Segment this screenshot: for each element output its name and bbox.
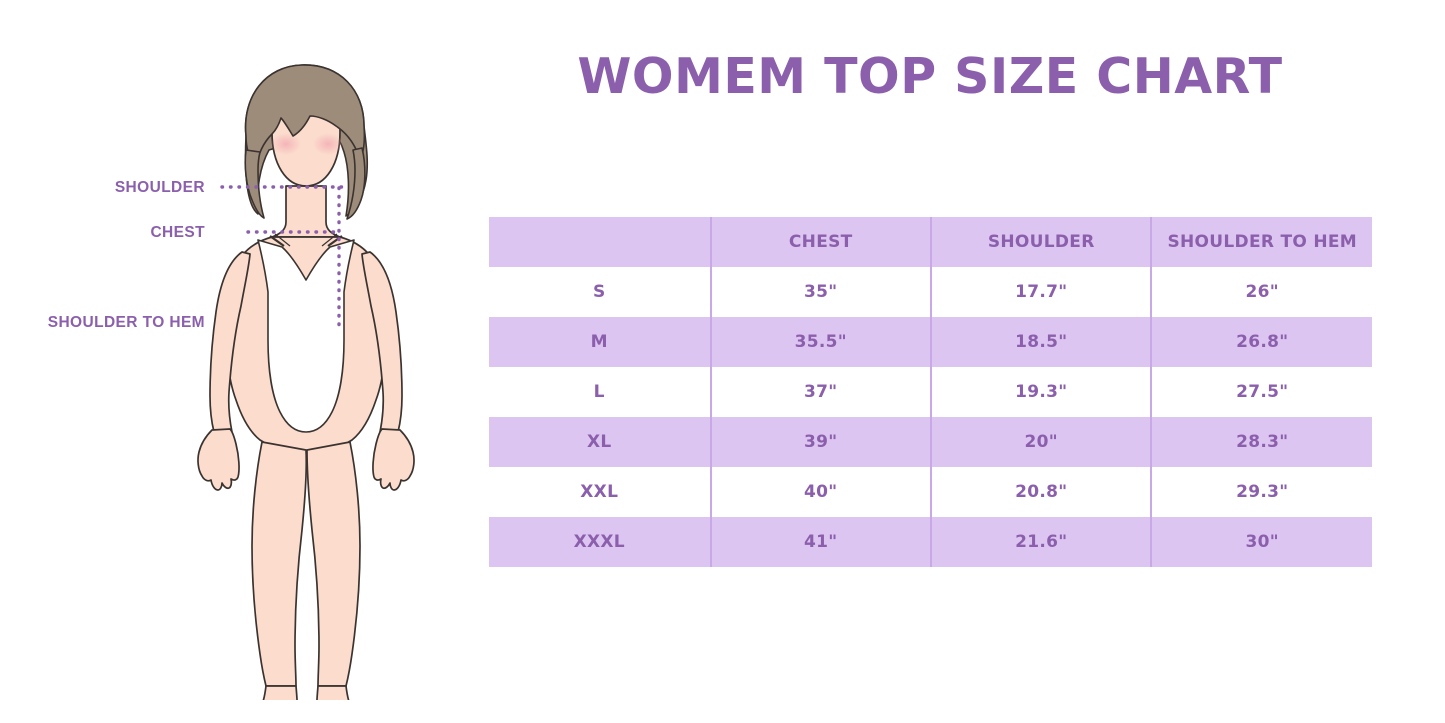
cell-shoulder: 21.6"	[931, 517, 1151, 567]
cell-shoulder-to-hem: 26.8"	[1151, 317, 1372, 367]
cell-shoulder: 19.3"	[931, 367, 1151, 417]
cell-size: XL	[489, 417, 711, 467]
cell-size: L	[489, 367, 711, 417]
table-header-row: CHEST SHOULDER SHOULDER TO HEM	[489, 217, 1372, 267]
cell-shoulder-to-hem: 30"	[1151, 517, 1372, 567]
table-row: XXXL 41" 21.6" 30"	[489, 517, 1372, 567]
column-header-chest: CHEST	[711, 217, 931, 267]
table-body: S 35" 17.7" 26" M 35.5" 18.5" 26.8" L 37…	[489, 267, 1372, 567]
cell-size: XXL	[489, 467, 711, 517]
cell-shoulder: 20.8"	[931, 467, 1151, 517]
cell-chest: 35"	[711, 267, 931, 317]
cell-chest: 37"	[711, 367, 931, 417]
page-title: WOMEM TOP SIZE CHART	[470, 48, 1390, 105]
cheek-right	[313, 133, 343, 155]
table-row: XL 39" 20" 28.3"	[489, 417, 1372, 467]
column-header-shoulder-to-hem: SHOULDER TO HEM	[1151, 217, 1372, 267]
cell-size: S	[489, 267, 711, 317]
cheek-left	[271, 133, 301, 155]
cell-size: M	[489, 317, 711, 367]
table-header: CHEST SHOULDER SHOULDER TO HEM	[489, 217, 1372, 267]
column-header-size	[489, 217, 711, 267]
cell-shoulder: 17.7"	[931, 267, 1151, 317]
table-row: S 35" 17.7" 26"	[489, 267, 1372, 317]
cell-shoulder-to-hem: 29.3"	[1151, 467, 1372, 517]
size-chart-page: WOMEM TOP SIZE CHART SHOULDER CHEST SHOU…	[0, 0, 1445, 723]
cell-shoulder: 18.5"	[931, 317, 1151, 367]
cell-shoulder: 20"	[931, 417, 1151, 467]
cell-size: XXXL	[489, 517, 711, 567]
size-chart-table: CHEST SHOULDER SHOULDER TO HEM S 35" 17.…	[489, 217, 1372, 567]
column-header-shoulder: SHOULDER	[931, 217, 1151, 267]
cell-chest: 35.5"	[711, 317, 931, 367]
table-row: L 37" 19.3" 27.5"	[489, 367, 1372, 417]
cell-chest: 40"	[711, 467, 931, 517]
cell-chest: 39"	[711, 417, 931, 467]
table-row: XXL 40" 20.8" 29.3"	[489, 467, 1372, 517]
cell-shoulder-to-hem: 27.5"	[1151, 367, 1372, 417]
body-figure	[150, 40, 460, 700]
cell-chest: 41"	[711, 517, 931, 567]
table-row: M 35.5" 18.5" 26.8"	[489, 317, 1372, 367]
cell-shoulder-to-hem: 28.3"	[1151, 417, 1372, 467]
cell-shoulder-to-hem: 26"	[1151, 267, 1372, 317]
